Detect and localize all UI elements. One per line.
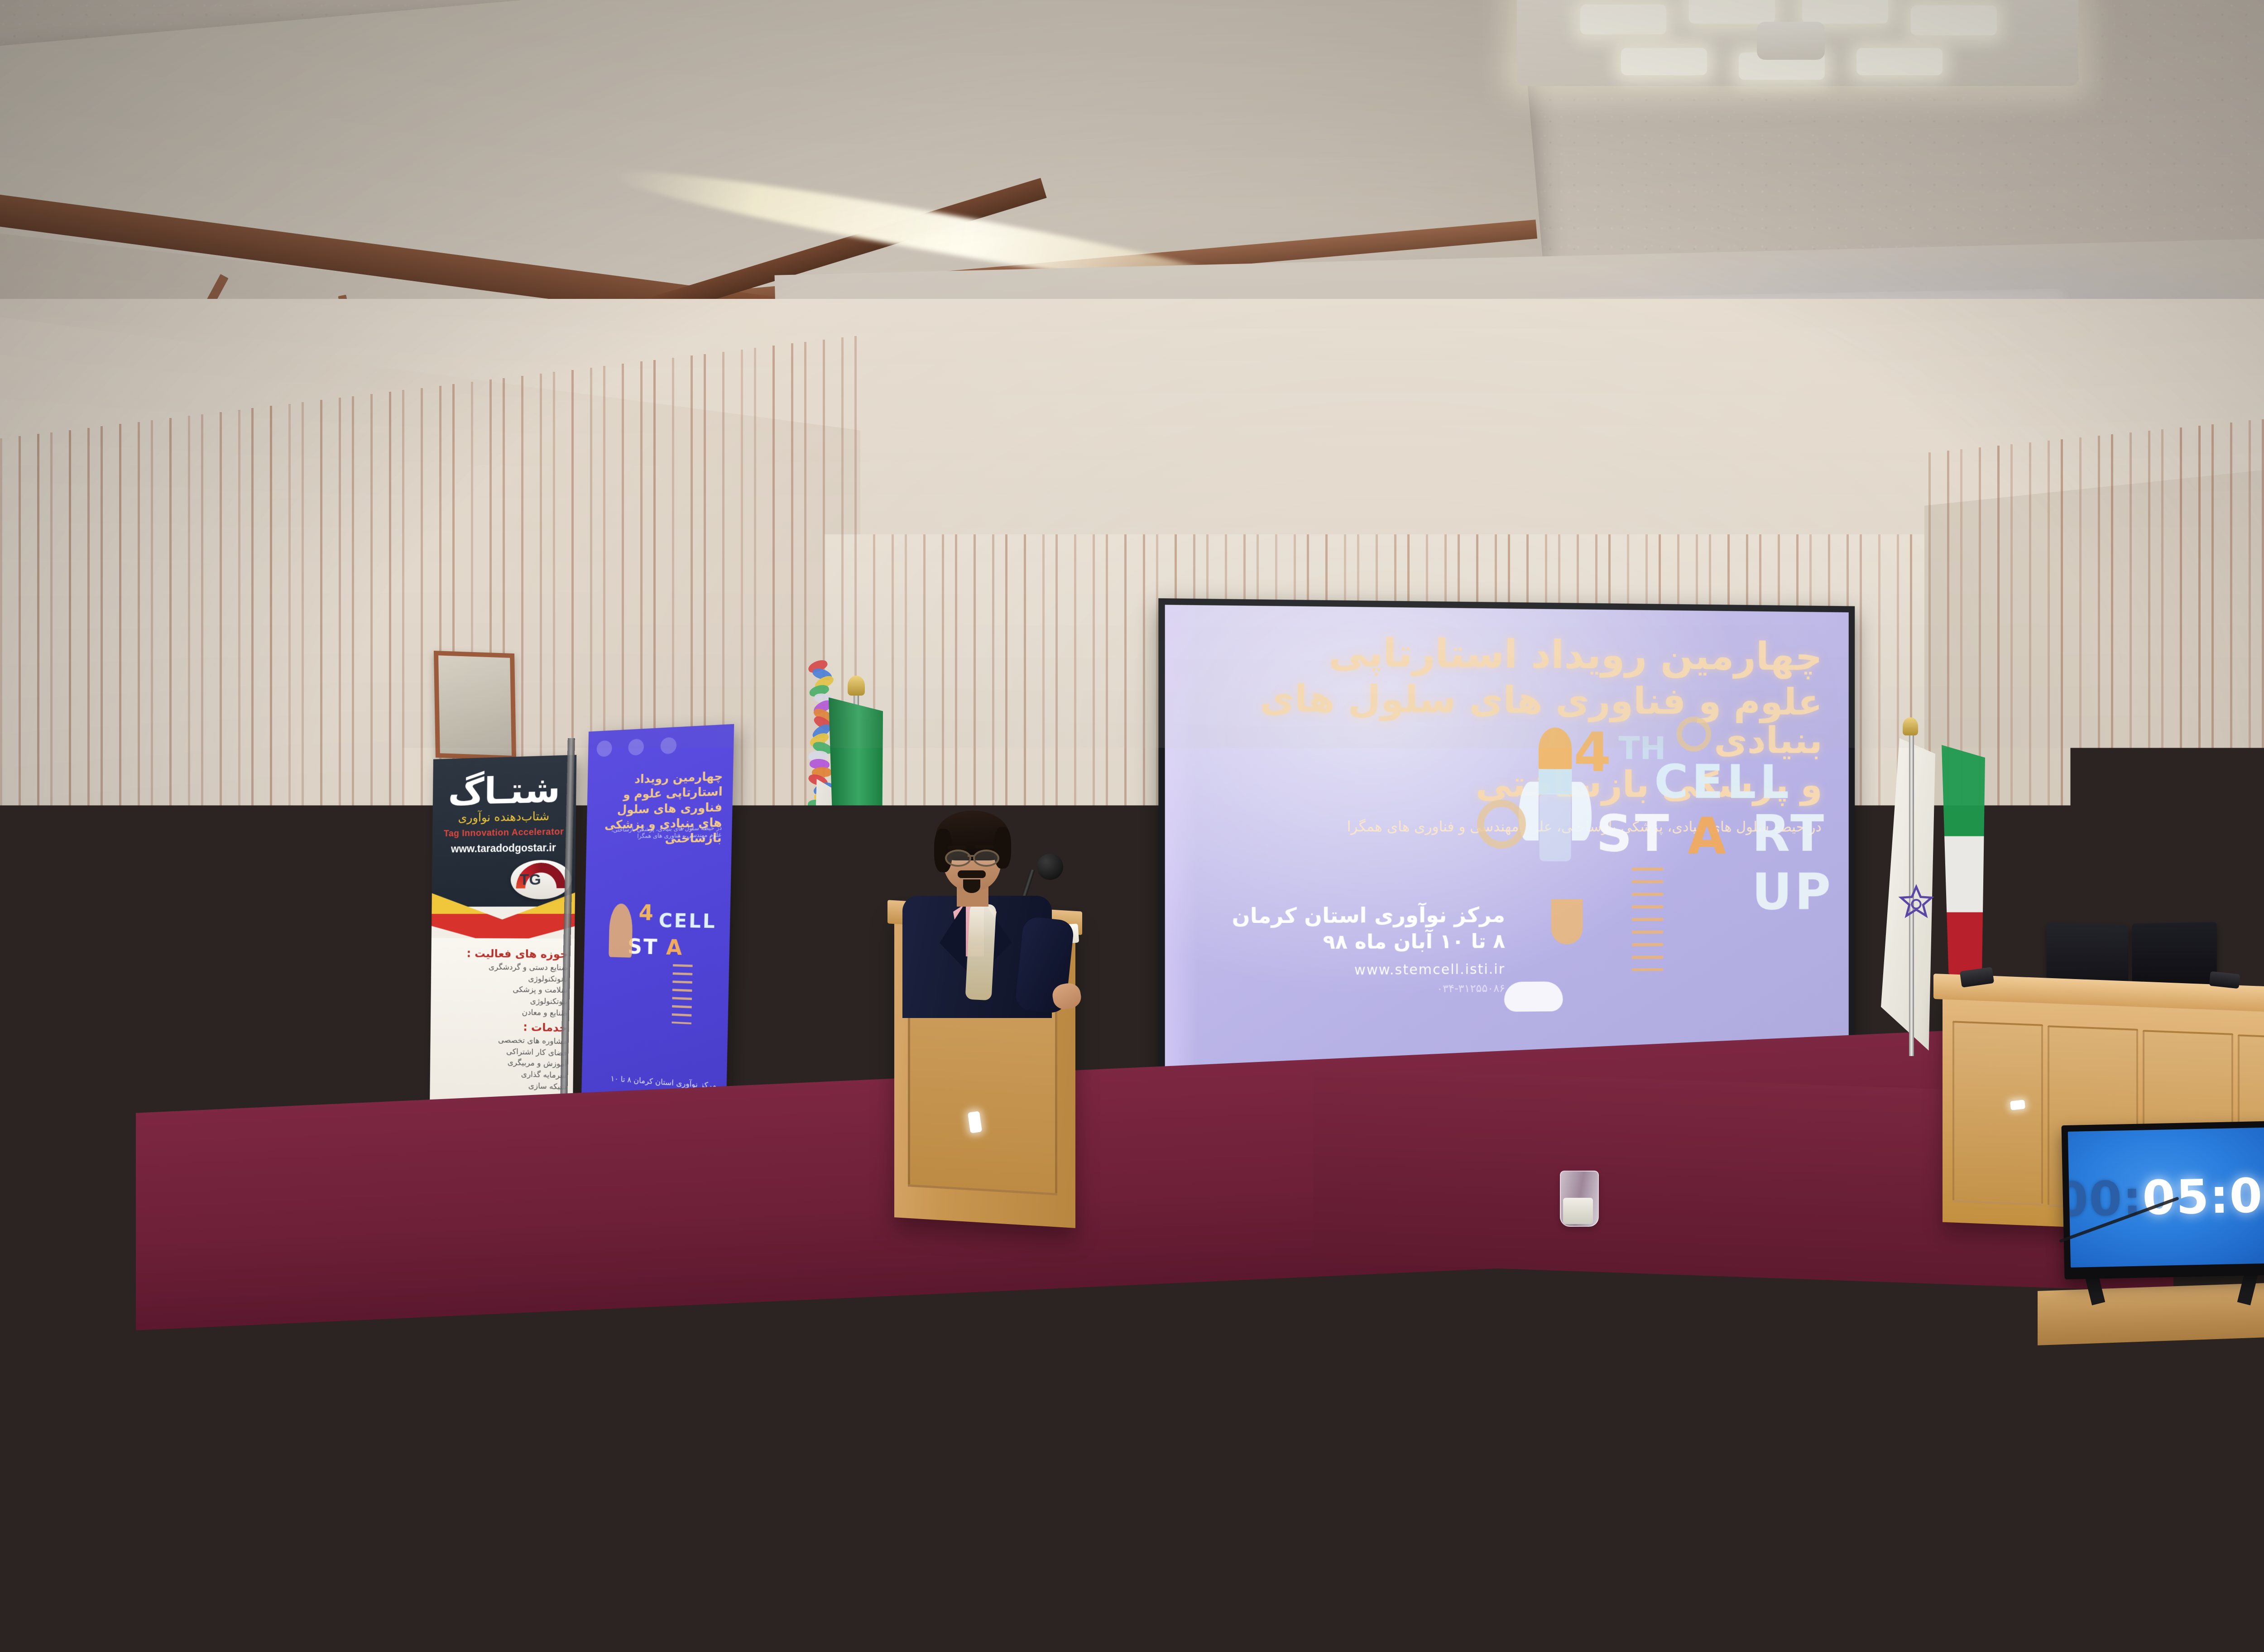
seat-cushion	[1612, 1262, 1700, 1294]
seat-cushion	[1480, 1555, 1646, 1614]
seat-cushion	[1628, 1316, 1730, 1352]
seat-cushion	[675, 1441, 815, 1492]
seat-cushion	[2154, 1271, 2243, 1303]
seat-cushion	[1007, 1304, 1109, 1341]
seat-cushion	[1068, 1253, 1157, 1286]
seat-cushion	[89, 1352, 208, 1395]
seat-cushion	[978, 1252, 1066, 1284]
seat-cushion	[796, 1249, 885, 1281]
seat-cushion	[0, 1236, 71, 1268]
seat-cushion	[2146, 1393, 2264, 1436]
audience-seating	[0, 1232, 2264, 1652]
seat-cushion	[2245, 1272, 2264, 1304]
seat	[1650, 1559, 1817, 1652]
seat-back	[630, 1599, 796, 1652]
seat-cushion	[490, 1295, 591, 1331]
seat-cushion	[694, 1364, 813, 1407]
seat-cushion	[1938, 1321, 2040, 1358]
seat-cushion	[0, 1350, 87, 1393]
seat-cushion	[210, 1354, 329, 1397]
auditorium-photo: چهارمین رویداد استارتاپی علوم و فناوری ه…	[0, 0, 2264, 1652]
seat-cushion	[1102, 1451, 1241, 1501]
seat-cushion	[0, 1518, 117, 1578]
seat-cushion	[2240, 1476, 2264, 1526]
seat-cushion	[1318, 1310, 1419, 1346]
seat-cushion	[2025, 1391, 2144, 1433]
seat-cushion	[1421, 1311, 1523, 1348]
seat-cushion	[1662, 1383, 1781, 1426]
seat-back	[1480, 1619, 1646, 1652]
seat-cushion	[1244, 1454, 1383, 1504]
seat-cushion	[283, 1291, 384, 1328]
seat-cushion	[1525, 1314, 1626, 1350]
seat-cushion	[573, 1362, 692, 1404]
seat	[1140, 1547, 1307, 1652]
seat-cushion	[801, 1301, 902, 1337]
seat-cushion	[1990, 1567, 2156, 1627]
seat-cushion	[904, 1302, 1005, 1339]
seat-cushion	[1420, 1379, 1539, 1421]
seat-cushion	[1650, 1559, 1817, 1618]
seat	[1990, 1567, 2156, 1652]
seat-back	[1140, 1611, 1307, 1652]
audience-floral-headscarf	[299, 1494, 435, 1644]
audience-photographer	[109, 1445, 299, 1635]
seat	[0, 1518, 117, 1652]
seat-cushion	[1973, 1268, 2062, 1300]
seat-cushion	[1310, 1551, 1477, 1610]
seat-cushion	[1784, 1386, 1902, 1429]
seat	[630, 1535, 796, 1652]
seat-cushion	[1249, 1256, 1338, 1288]
seat-cushion	[387, 1293, 488, 1330]
seat-cushion	[959, 1448, 1099, 1498]
seat-cushion	[1955, 1470, 2095, 1520]
seat-cushion	[0, 1426, 103, 1476]
seat-cushion	[706, 1248, 795, 1280]
seat	[2160, 1571, 2264, 1652]
seat-cushion	[1214, 1308, 1316, 1345]
seat-back	[2160, 1636, 2264, 1652]
seat-back	[0, 1582, 117, 1652]
seat	[1480, 1555, 1646, 1652]
seat-back	[1990, 1631, 2156, 1652]
seat-cushion	[254, 1240, 342, 1273]
seat-cushion	[1883, 1267, 1971, 1299]
seat-cushion	[1792, 1265, 1881, 1297]
seat-cushion	[1541, 1381, 1660, 1424]
seat-cushion	[1521, 1261, 1610, 1293]
seat-cushion	[2249, 1326, 2264, 1363]
seat-back	[1650, 1623, 1817, 1652]
seat-cushion	[533, 1438, 672, 1489]
seat-cushion	[1111, 1306, 1212, 1343]
seat-cushion	[630, 1535, 796, 1594]
seat-cushion	[1140, 1547, 1307, 1606]
seat-cushion	[0, 1286, 74, 1322]
